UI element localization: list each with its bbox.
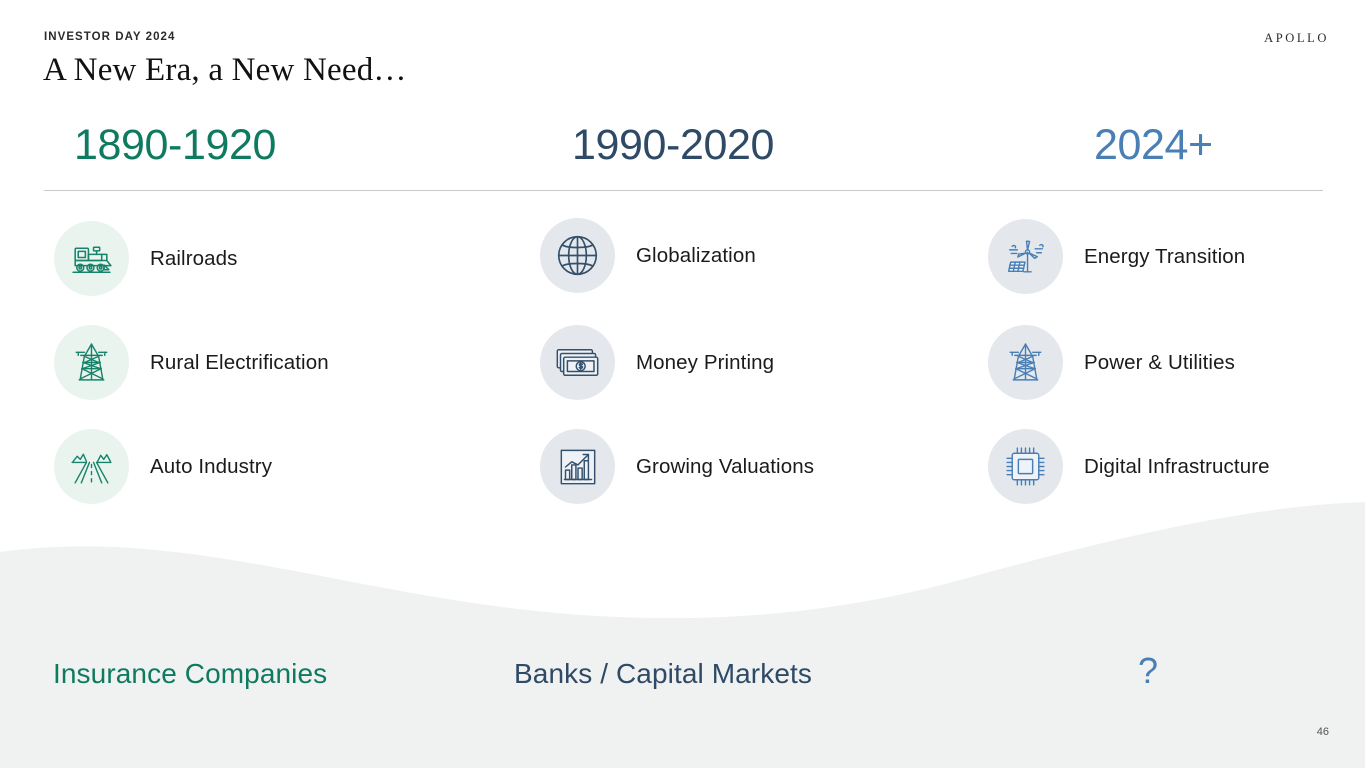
list-item: Growing Valuations — [540, 429, 814, 504]
list-item: Energy Transition — [988, 219, 1245, 294]
list-item: Power & Utilities — [988, 325, 1235, 400]
icon-grid: Railroads Rural Ele — [0, 0, 1365, 768]
wind-turbine-solar-icon — [988, 219, 1063, 294]
bar-chart-growth-icon — [540, 429, 615, 504]
list-item-label: Money Printing — [636, 351, 774, 375]
power-pylon-icon — [988, 325, 1063, 400]
list-item: Digital Infrastructure — [988, 429, 1270, 504]
footer-label-banks: Banks / Capital Markets — [514, 658, 812, 690]
footer-label-insurance: Insurance Companies — [53, 658, 327, 690]
list-item-label: Auto Industry — [150, 455, 272, 479]
list-item-label: Power & Utilities — [1084, 351, 1235, 375]
globe-icon — [540, 218, 615, 293]
microchip-icon — [988, 429, 1063, 504]
list-item: Auto Industry — [54, 429, 272, 504]
list-item-label: Growing Valuations — [636, 455, 814, 479]
page-number: 46 — [1317, 726, 1329, 738]
list-item-label: Digital Infrastructure — [1084, 455, 1270, 479]
footer-label-question: ? — [1138, 650, 1158, 692]
list-item: Money Printing — [540, 325, 774, 400]
list-item-label: Railroads — [150, 247, 238, 271]
list-item: Railroads — [54, 221, 238, 296]
list-item-label: Energy Transition — [1084, 245, 1245, 269]
list-item: Rural Electrification — [54, 325, 329, 400]
banknotes-icon — [540, 325, 615, 400]
list-item: Globalization — [540, 218, 756, 293]
list-item-label: Globalization — [636, 244, 756, 268]
highway-road-icon — [54, 429, 129, 504]
locomotive-icon — [54, 221, 129, 296]
list-item-label: Rural Electrification — [150, 351, 329, 375]
power-pylon-icon — [54, 325, 129, 400]
slide: INVESTOR DAY 2024 APOLLO A New Era, a Ne… — [0, 0, 1365, 768]
